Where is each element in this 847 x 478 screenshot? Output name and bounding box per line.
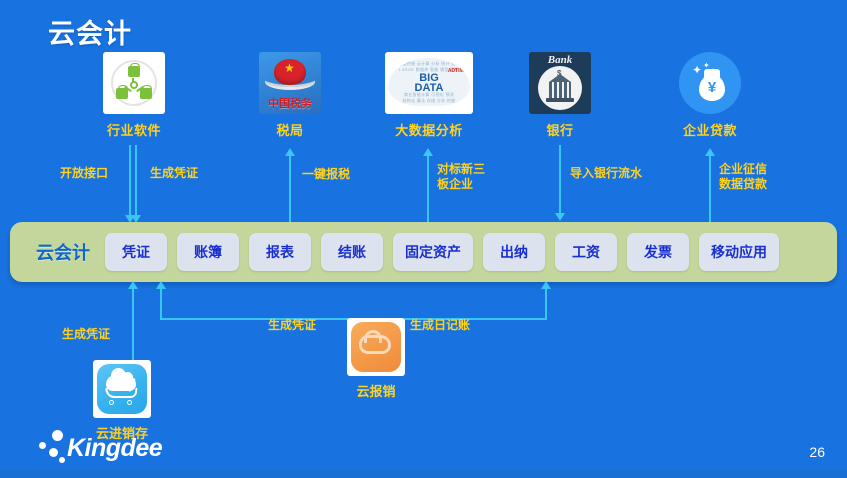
partner-node-big-data[interactable]: 数据挖掘 云计算 分析 统计 信息 LARGE 数据库 智能 模型 采集 BIG… bbox=[374, 52, 484, 139]
connector-label-benchmark-neeq: 对标新三板企业 bbox=[437, 162, 485, 192]
connector-gen-voucher-inventory-line bbox=[132, 288, 134, 362]
connector-label-credit-data-loan: 企业征信数据贷款 bbox=[719, 162, 767, 192]
cloud-accounting-platform-bar: 云会计 凭证 账簿 报表 结账 固定资产 出纳 工资 发票 移动应用 bbox=[10, 222, 837, 282]
partner-label-bank: 银行 bbox=[505, 120, 615, 139]
big-data-accent-text: ADTIME bbox=[448, 68, 467, 74]
connector-label-open-interface: 开放接口 bbox=[60, 166, 108, 181]
module-chip-voucher[interactable]: 凭证 bbox=[105, 233, 167, 271]
module-chip-fixed-assets[interactable]: 固定资产 bbox=[393, 233, 473, 271]
partner-node-tax-bureau[interactable]: 中国税务 税局 bbox=[235, 52, 345, 139]
bank-building-icon: Bank $ bbox=[529, 52, 591, 114]
partner-label-big-data: 大数据分析 bbox=[374, 120, 484, 139]
lower-node-label-cloud-expense: 云报销 bbox=[321, 381, 431, 400]
connector-gen-voucher-expense-arrow bbox=[156, 281, 166, 289]
module-chip-mobile-app[interactable]: 移动应用 bbox=[699, 233, 779, 271]
module-chip-invoice[interactable]: 发票 bbox=[627, 233, 689, 271]
partner-node-bank[interactable]: Bank $ 银行 bbox=[505, 52, 615, 139]
connector-gen-journal-riser bbox=[545, 288, 547, 320]
connector-label-import-bank-flow: 导入银行流水 bbox=[570, 166, 642, 181]
connector-label-gen-voucher-expense: 生成凭证 bbox=[268, 318, 316, 333]
big-data-cloud-icon: 数据挖掘 云计算 分析 统计 信息 LARGE 数据库 智能 模型 采集 BIG… bbox=[385, 52, 473, 114]
connector-gen-voucher-expense-riser bbox=[160, 288, 162, 320]
connector-label-gen-voucher-inventory: 生成凭证 bbox=[62, 327, 110, 342]
module-chip-report[interactable]: 报表 bbox=[249, 233, 311, 271]
connector-credit-data-loan-arrow bbox=[705, 148, 715, 156]
platform-title: 云会计 bbox=[36, 239, 90, 265]
footer-strip bbox=[0, 470, 847, 478]
module-chip-cashier[interactable]: 出纳 bbox=[483, 233, 545, 271]
module-chip-ledger[interactable]: 账簿 bbox=[177, 233, 239, 271]
slide-canvas: 云会计 行业软件 中国税务 税局 数据挖掘 云计算 分析 统计 信息 LARGE… bbox=[0, 0, 847, 478]
connector-import-bank-flow-line bbox=[559, 145, 561, 215]
partner-label-enterprise-loan: 企业贷款 bbox=[655, 120, 765, 139]
connector-gen-voucher-inventory-arrow bbox=[128, 281, 138, 289]
china-tax-emblem-icon: 中国税务 bbox=[259, 52, 321, 114]
connector-label-gen-voucher-top: 生成凭证 bbox=[150, 166, 198, 181]
cloud-cart-icon bbox=[93, 360, 151, 418]
connector-benchmark-neeq-arrow bbox=[423, 148, 433, 156]
network-nodes-icon bbox=[103, 52, 165, 114]
partner-label-tax-bureau: 税局 bbox=[235, 120, 345, 139]
connector-open-interface-line bbox=[129, 145, 131, 217]
module-chip-closing[interactable]: 结账 bbox=[321, 233, 383, 271]
tax-emblem-text: 中国税务 bbox=[259, 95, 321, 111]
connector-one-click-tax-line bbox=[289, 155, 291, 222]
page-number: 26 bbox=[809, 444, 825, 460]
brand-wordmark: Kingdee bbox=[67, 434, 162, 463]
kingdee-logo: Kingdee bbox=[38, 430, 178, 466]
module-chip-payroll[interactable]: 工资 bbox=[555, 233, 617, 271]
money-bag-icon: ✦✦✦ ¥ bbox=[679, 52, 741, 114]
connector-gen-journal-arrow bbox=[541, 281, 551, 289]
connector-one-click-tax-arrow bbox=[285, 148, 295, 156]
yen-sign-icon: ¥ bbox=[699, 80, 725, 95]
bank-brand-text: Bank bbox=[529, 54, 591, 66]
partner-node-industry-software[interactable]: 行业软件 bbox=[79, 52, 189, 139]
connector-import-bank-flow-arrow bbox=[555, 213, 565, 221]
partner-label-industry-software: 行业软件 bbox=[79, 120, 189, 139]
connector-benchmark-neeq-line bbox=[427, 155, 429, 222]
cloud-clip-icon bbox=[347, 318, 405, 376]
connector-gen-voucher-top-line bbox=[135, 145, 137, 217]
page-title: 云会计 bbox=[48, 12, 132, 51]
partner-node-enterprise-loan[interactable]: ✦✦✦ ¥ 企业贷款 bbox=[655, 52, 765, 139]
connector-label-one-click-tax: 一键报税 bbox=[302, 167, 350, 182]
connector-credit-data-loan-line bbox=[709, 155, 711, 222]
lower-node-cloud-expense[interactable]: 云报销 bbox=[321, 318, 431, 400]
